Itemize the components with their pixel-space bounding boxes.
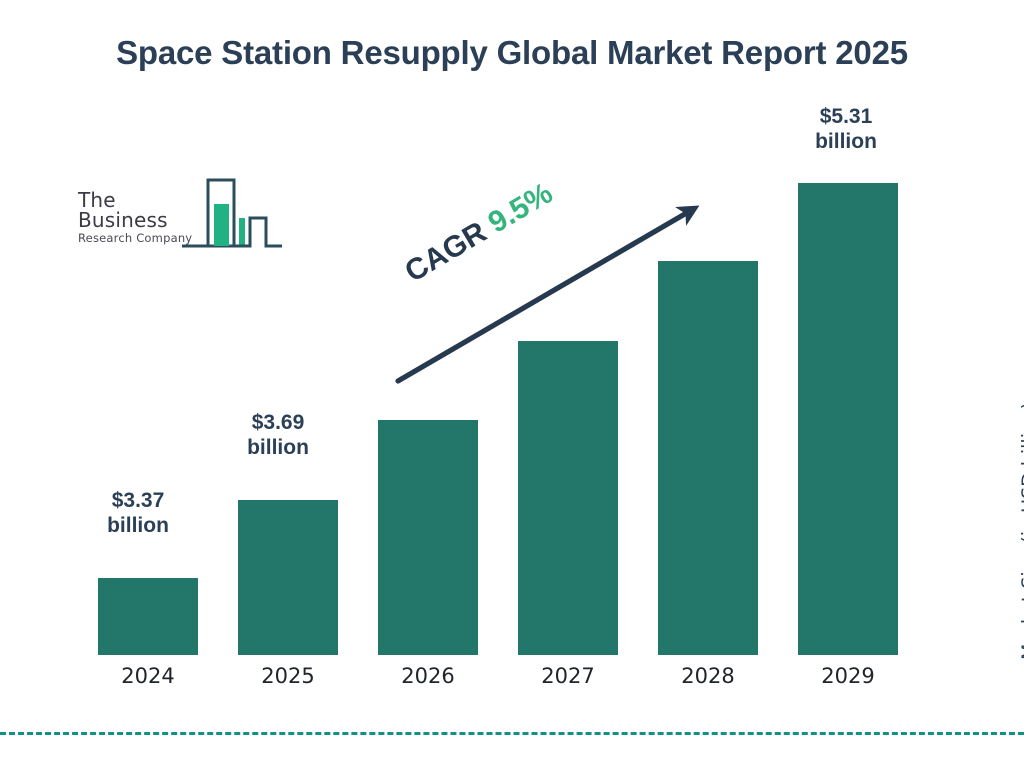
cagr-growth-arrow-icon — [0, 0, 1024, 768]
bottom-divider — [0, 732, 1024, 735]
bar-chart-plot: $3.37 billion $3.69 billion $5.31 billio… — [0, 0, 1024, 768]
chart-canvas: Space Station Resupply Global Market Rep… — [0, 0, 1024, 768]
y-axis-title: Market Size (in USD billion) — [1018, 330, 1024, 660]
